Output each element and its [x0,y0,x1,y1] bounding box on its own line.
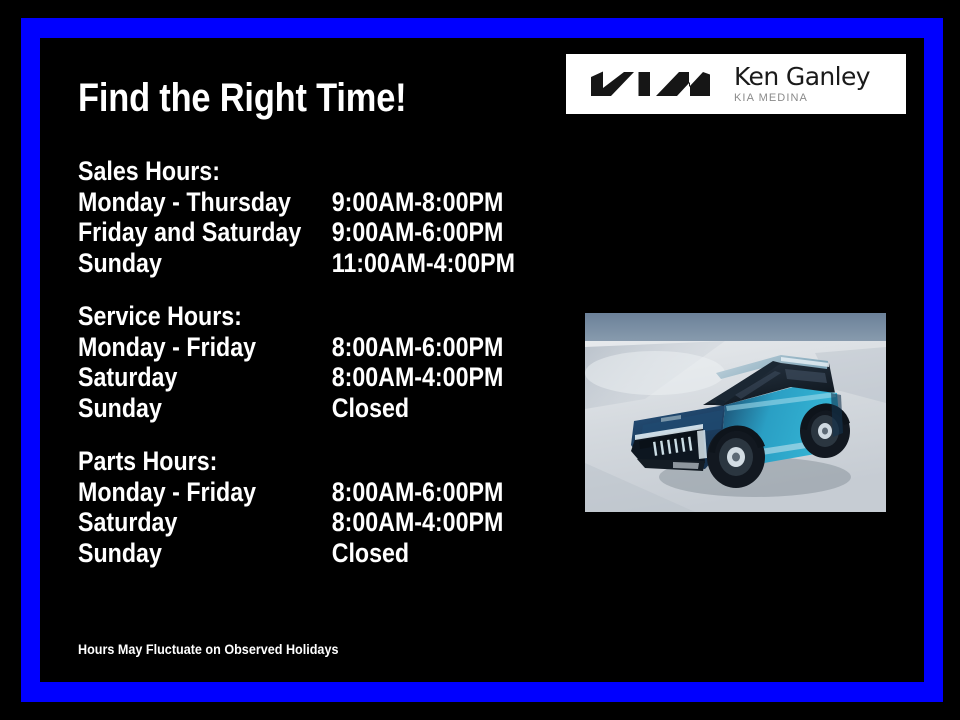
holiday-disclaimer: Hours May Fluctuate on Observed Holidays [78,640,338,658]
hours-row: Saturday 8:00AM-4:00PM [78,362,482,393]
hours-section-sales: Sales Hours: Monday - Thursday 9:00AM-8:… [78,156,548,278]
hours-row-time: Closed [332,538,409,569]
hours-row-days: Sunday [78,393,162,424]
hours-row-time: 9:00AM-8:00PM [332,187,504,218]
hours-row-time: 11:00AM-4:00PM [332,248,515,279]
hours-row: Sunday 11:00AM-4:00PM [78,248,482,279]
hours-row: Monday - Friday 8:00AM-6:00PM [78,477,482,508]
hours-row-time: 8:00AM-6:00PM [332,332,504,363]
hours-row-days: Monday - Friday [78,332,256,363]
hours-row-days: Sunday [78,538,162,569]
section-heading: Sales Hours: [78,156,482,187]
hours-row: Sunday Closed [78,393,482,424]
kia-logo-mark [588,69,712,99]
section-heading: Service Hours: [78,301,482,332]
page-title: Find the Right Time! [78,76,406,120]
kia-ev9-illustration [585,313,886,512]
hours-row: Monday - Friday 8:00AM-6:00PM [78,332,482,363]
hours-row-days: Saturday [78,362,177,393]
hours-row-days: Sunday [78,248,162,279]
hours-row-days: Saturday [78,507,177,538]
hours-row: Saturday 8:00AM-4:00PM [78,507,482,538]
hours-row-time: 8:00AM-4:00PM [332,507,504,538]
hours-row-time: 8:00AM-4:00PM [332,362,504,393]
hours-row-days: Monday - Thursday [78,187,291,218]
hours-row-time: Closed [332,393,409,424]
hours-row: Sunday Closed [78,538,482,569]
hours-row-days: Monday - Friday [78,477,256,508]
vehicle-photo [585,313,886,512]
hours-row-time: 9:00AM-6:00PM [332,217,504,248]
dealer-name: Ken Ganley [734,64,870,90]
hours-row-days: Friday and Saturday [78,217,301,248]
dealer-logo-lockup: Ken Ganley KIA MEDINA [566,54,906,114]
hours-list: Sales Hours: Monday - Thursday 9:00AM-8:… [78,156,548,568]
dealer-logo-text: Ken Ganley KIA MEDINA [734,64,870,105]
hours-row: Monday - Thursday 9:00AM-8:00PM [78,187,482,218]
dealer-subtitle: KIA MEDINA [734,91,870,105]
hours-section-parts: Parts Hours: Monday - Friday 8:00AM-6:00… [78,446,548,568]
hours-row-time: 8:00AM-6:00PM [332,477,504,508]
slide-canvas: Find the Right Time! Sales Hours: Monday… [0,0,960,720]
hours-row: Friday and Saturday 9:00AM-6:00PM [78,217,482,248]
section-heading: Parts Hours: [78,446,482,477]
hours-section-service: Service Hours: Monday - Friday 8:00AM-6:… [78,301,548,423]
